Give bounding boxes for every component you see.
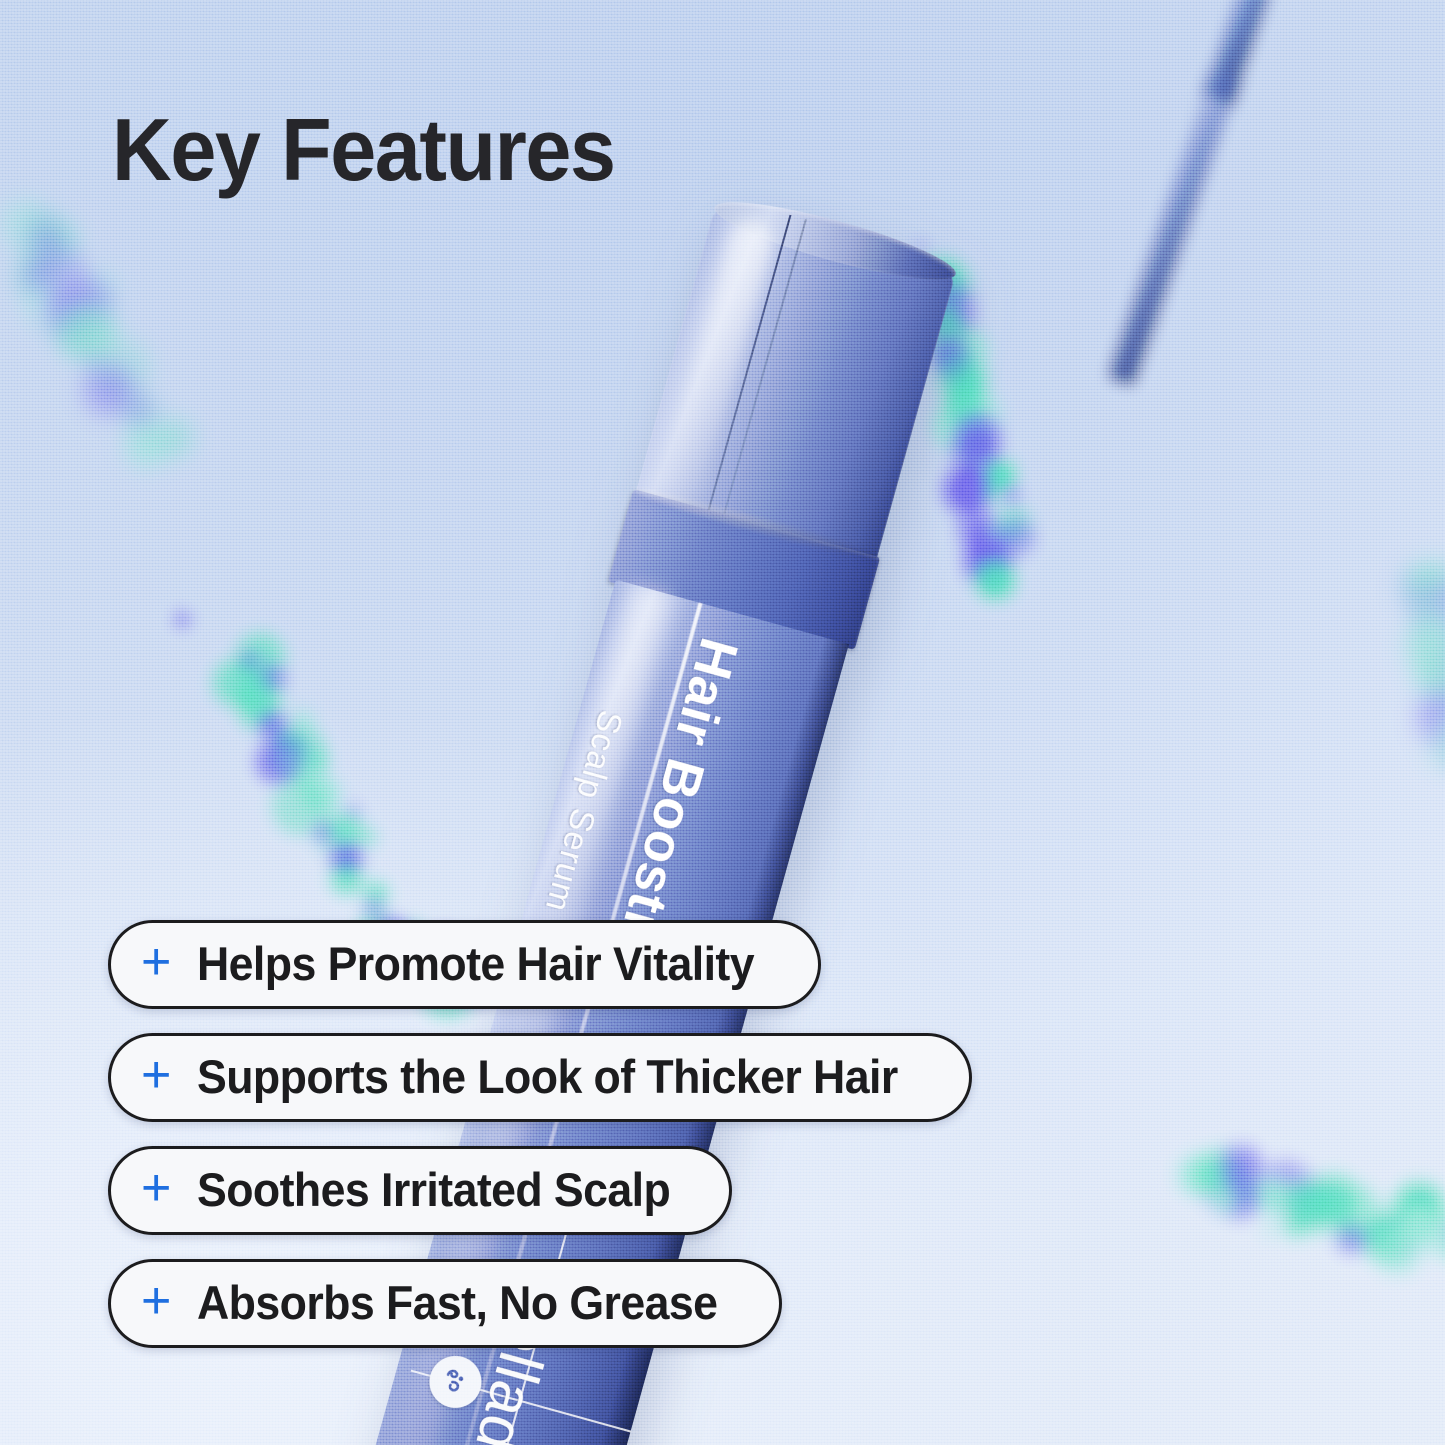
page-title: Key Features	[112, 104, 615, 196]
product-feature-banner: Hair Boosting Scalp Serum Celladix 0.50 …	[0, 0, 1445, 1445]
feature-pill[interactable]: +Helps Promote Hair Vitality	[108, 920, 821, 1009]
feature-pill-label: Soothes Irritated Scalp	[197, 1162, 670, 1217]
background-bottle-cap	[1211, 0, 1272, 83]
plus-icon: +	[141, 1168, 171, 1210]
feature-pill[interactable]: +Soothes Irritated Scalp	[108, 1146, 732, 1235]
bokeh-cluster-right-edge	[1357, 546, 1445, 773]
feature-pill-label: Helps Promote Hair Vitality	[197, 936, 754, 991]
bokeh-cluster-bottom-right	[1181, 1042, 1445, 1388]
feature-pill-label: Absorbs Fast, No Grease	[197, 1275, 717, 1330]
feature-pill[interactable]: +Absorbs Fast, No Grease	[108, 1259, 782, 1348]
plus-icon: +	[141, 1281, 171, 1323]
feature-pill[interactable]: +Supports the Look of Thicker Hair	[108, 1033, 972, 1122]
plus-icon: +	[141, 942, 171, 984]
blurred-background-bottle	[1105, 0, 1274, 386]
feature-pill-label: Supports the Look of Thicker Hair	[197, 1049, 898, 1104]
feature-list: +Helps Promote Hair Vitality+Supports th…	[108, 920, 972, 1348]
background-bottle-body	[1107, 94, 1231, 387]
plus-icon: +	[141, 1055, 171, 1097]
bokeh-cluster-top-left	[0, 193, 243, 466]
cap-gloss-highlight	[657, 216, 778, 511]
